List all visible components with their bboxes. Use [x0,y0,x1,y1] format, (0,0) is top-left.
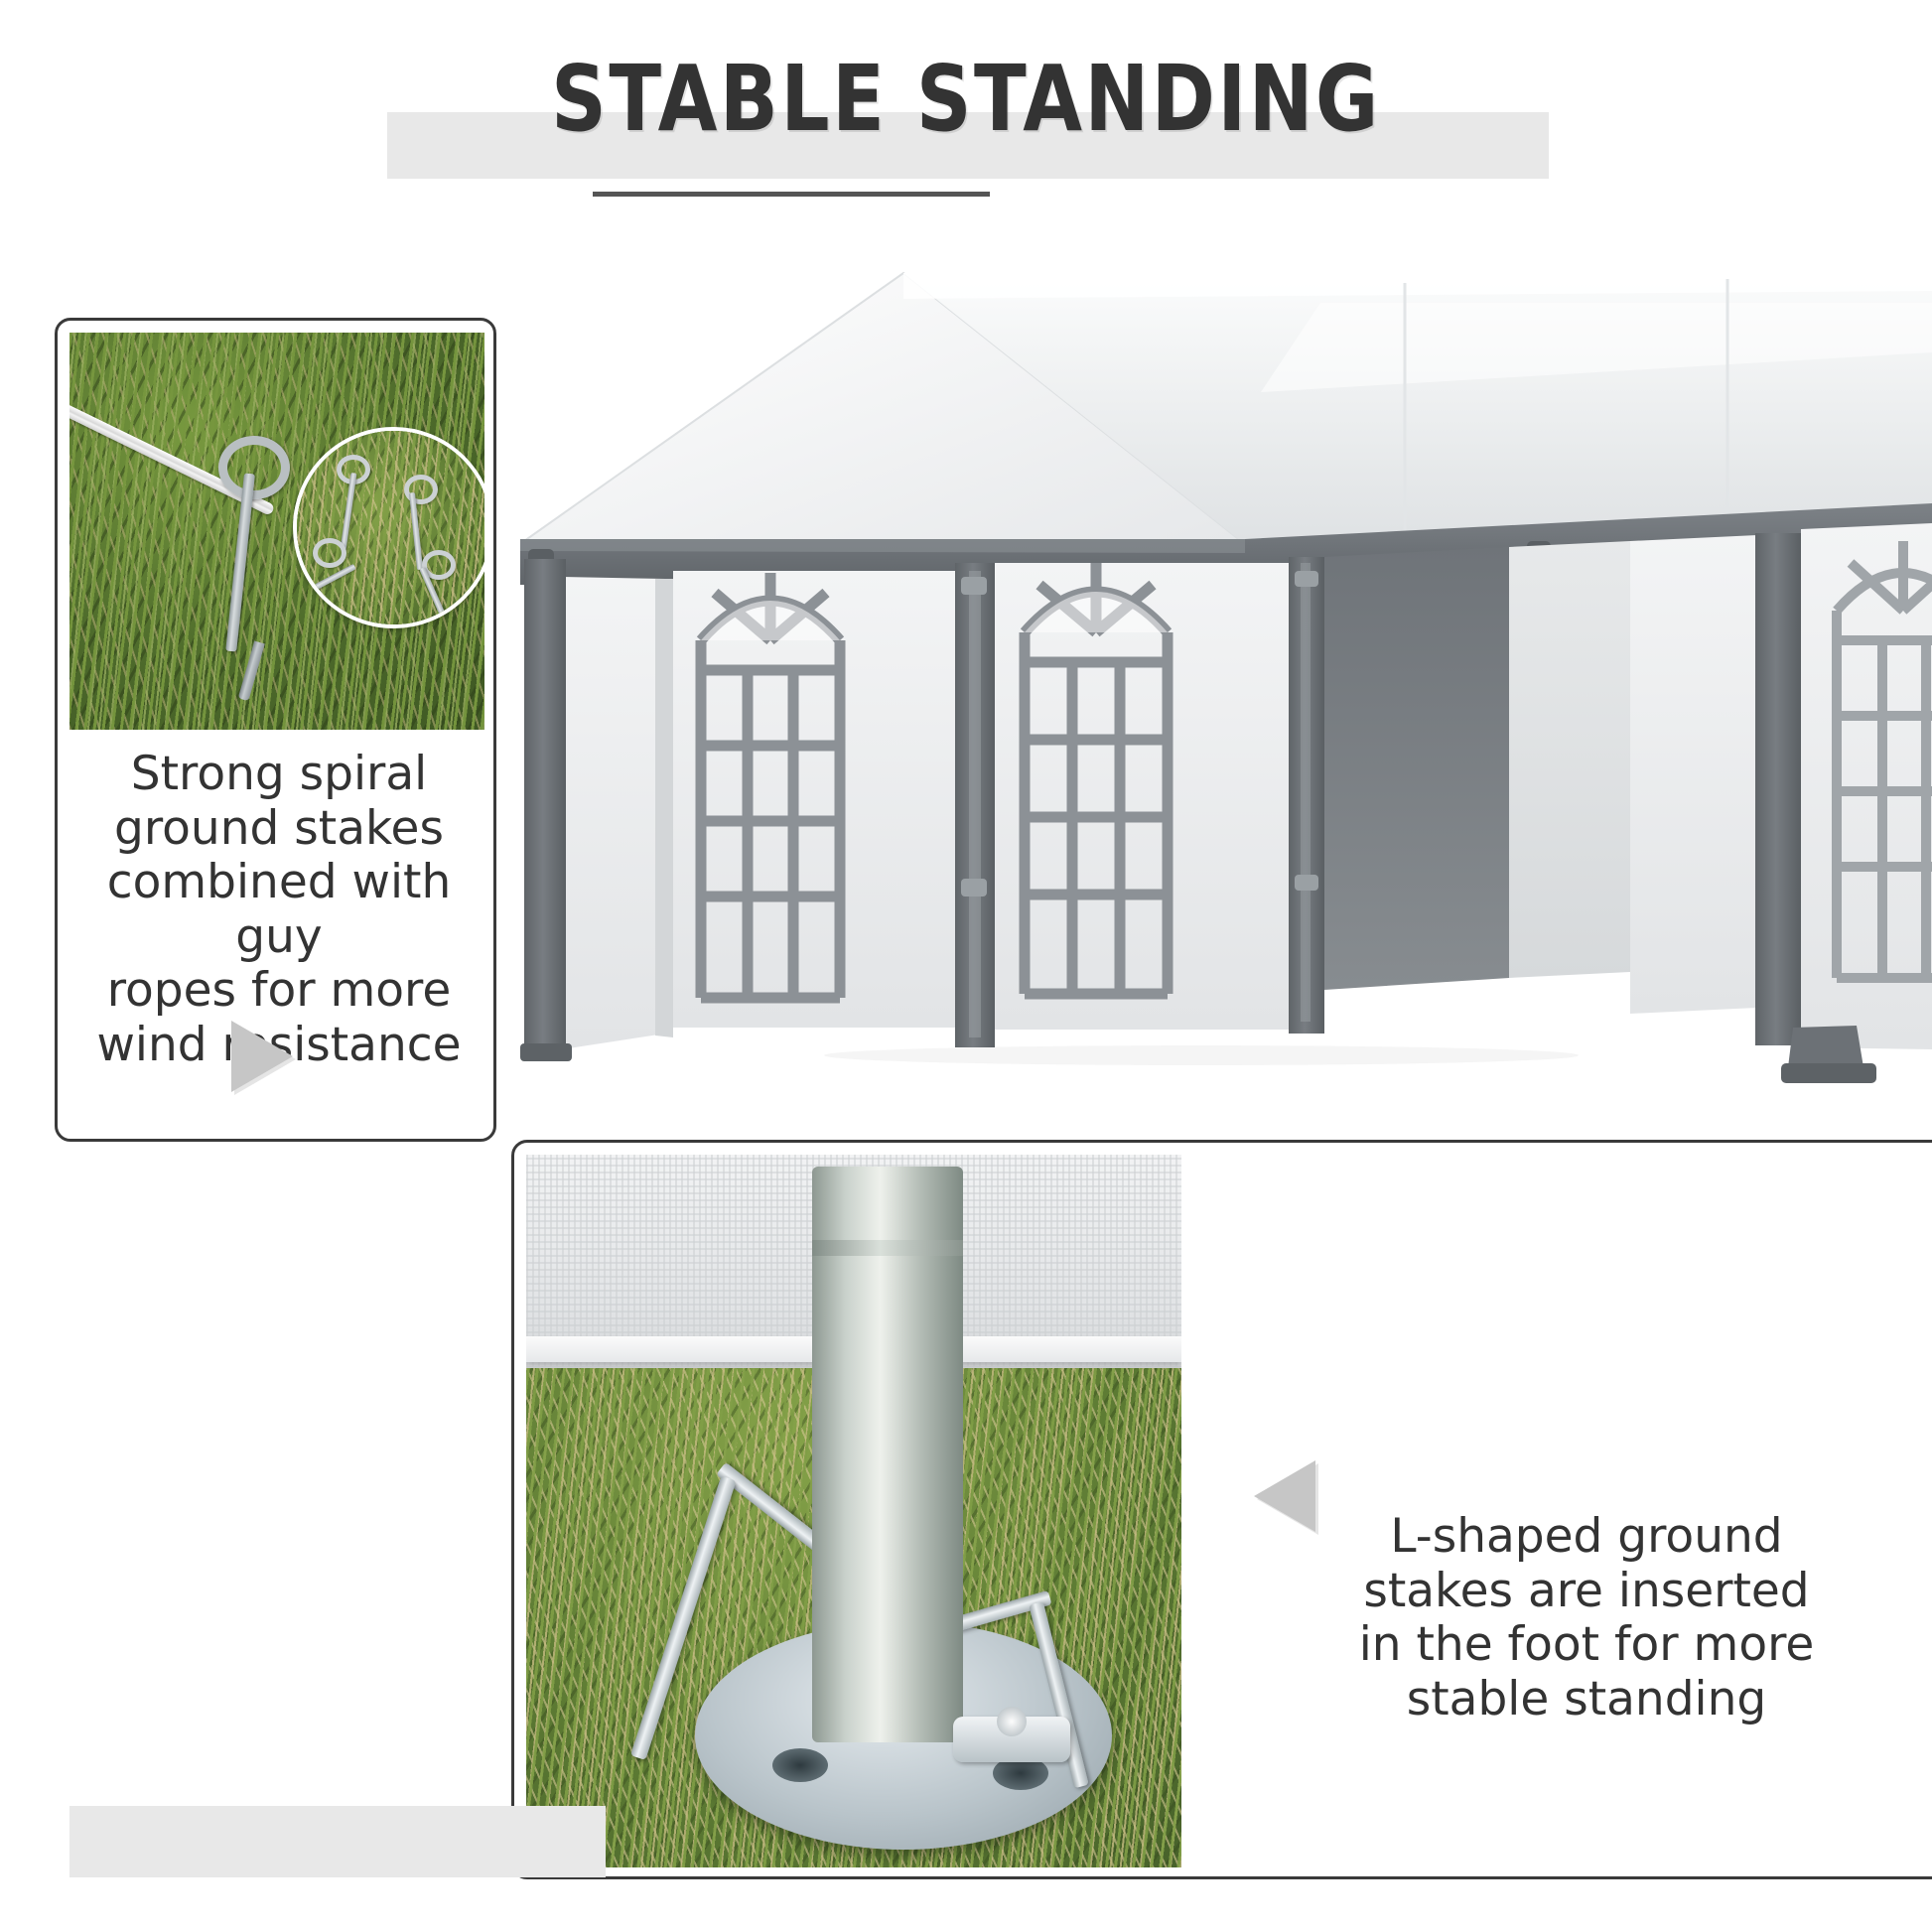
l-stake-caption: L-shaped ground stakes are inserted in t… [1209,1510,1932,1726]
party-tent-illustration [506,243,1932,1117]
wing-nut-fastener [953,1717,1070,1762]
l-stake-panel: L-shaped ground stakes are inserted in t… [511,1140,1932,1879]
title-divider-rule [593,192,990,197]
spiral-stake-photo [69,333,484,730]
spiral-stake-loop [218,436,290,499]
page-title: STABLE STANDING [155,46,1778,152]
bottom-accent-band [69,1806,606,1877]
l-stake-photo [526,1155,1181,1867]
spiral-stake-panel: Strong spiral ground stakes combined wit… [55,318,496,1142]
arrow-right-icon [231,1021,293,1092]
inset-stake-loop-3 [313,538,346,568]
foot-plate-hole-left [772,1748,828,1782]
inset-grass-background [297,431,484,624]
tent-pole-collar [812,1240,963,1256]
stakes-inset-circle [293,427,484,628]
